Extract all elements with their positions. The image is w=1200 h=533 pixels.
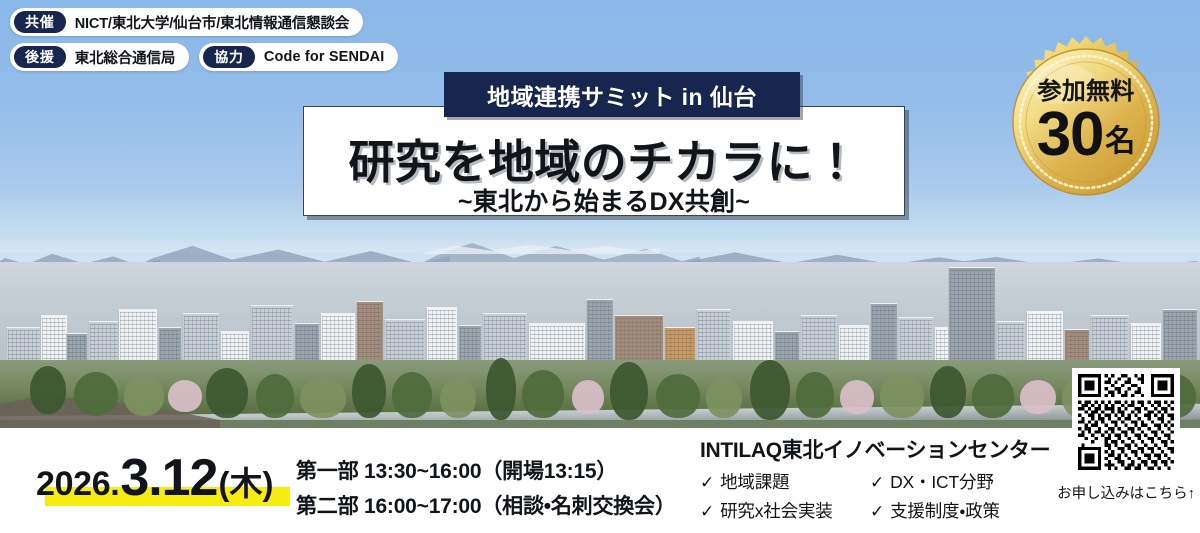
schedule-list: 第一部 13:30~16:00（開場13:15） 第二部 16:00~17:00… <box>296 455 676 520</box>
check-icon: ✓ <box>700 473 714 493</box>
event-banner: 共催 NICT/東北大学/仙台市/東北情報通信懇談会 後援 東北総合通信局 協力… <box>0 0 1200 533</box>
check-icon: ✓ <box>700 502 714 522</box>
topic-item: ✓ 研究x社会実装 <box>700 498 862 523</box>
topic-label: 地域課題 <box>720 469 789 494</box>
date-day-of-week: (木) <box>218 457 273 505</box>
organizer-badge-koen: 後援 東北総合通信局 <box>10 43 189 71</box>
venue-block: INTILAQ東北イノベーションセンター ✓ 地域課題 ✓ DX・ICT分野 ✓… <box>700 434 1050 523</box>
organizer-badges: 共催 NICT/東北大学/仙台市/東北情報通信懇談会 後援 東北総合通信局 協力… <box>10 8 398 71</box>
check-icon: ✓ <box>870 502 884 522</box>
badge-value-label: 東北総合通信局 <box>75 47 176 68</box>
organizer-row: 共催 NICT/東北大学/仙台市/東北情報通信懇談会 <box>10 8 398 36</box>
badge-tag-label: 協力 <box>203 46 255 68</box>
venue-name: INTILAQ東北イノベーションセンター <box>700 434 1050 464</box>
title-tab-label: 地域連携サミット in 仙台 <box>487 78 757 112</box>
organizer-row: 後援 東北総合通信局 協力 Code for SENDAI <box>10 43 398 71</box>
schedule-line: 第二部 16:00~17:00（相談•名刺交換会） <box>296 490 676 520</box>
badge-tag-label: 後援 <box>14 46 66 68</box>
badge-value-label: Code for SENDAI <box>264 49 385 65</box>
topic-item: ✓ DX・ICT分野 <box>870 469 1050 494</box>
topic-label: DX・ICT分野 <box>890 469 994 494</box>
date-year: 2026. <box>36 465 119 504</box>
city-skyline <box>0 262 1200 372</box>
registration-qr-code[interactable] <box>1072 368 1180 476</box>
topic-item: ✓ 支援制度・政策 <box>870 498 1050 523</box>
schedule-line: 第一部 13:30~16:00（開場13:15） <box>296 455 676 485</box>
date-month-day: 3.12 <box>120 448 217 508</box>
free-admission-seal: 参加無料 30 名 <box>1000 36 1172 208</box>
organizer-badge-kyoryoku: 協力 Code for SENDAI <box>199 43 398 71</box>
organizer-badge-kyosai: 共催 NICT/東北大学/仙台市/東北情報通信懇談会 <box>10 8 363 36</box>
topic-list: ✓ 地域課題 ✓ DX・ICT分野 ✓ 研究x社会実装 ✓ 支援制度・政策 <box>700 469 1050 523</box>
title-tab-banner: 地域連携サミット in 仙台 <box>444 72 800 117</box>
topic-label: 研究x社会実装 <box>720 498 833 523</box>
event-date: 2026. 3.12 (木) <box>36 448 273 508</box>
qr-caption-label: お申し込みはこちら↑ <box>1040 482 1200 503</box>
topic-label: 支援制度・政策 <box>890 498 1000 523</box>
badge-value-label: NICT/東北大学/仙台市/東北情報通信懇談会 <box>75 12 350 33</box>
check-icon: ✓ <box>870 473 884 493</box>
badge-tag-label: 共催 <box>14 11 66 33</box>
subtitle: ~東北から始まるDX共創~ <box>303 182 905 218</box>
topic-item: ✓ 地域課題 <box>700 469 862 494</box>
